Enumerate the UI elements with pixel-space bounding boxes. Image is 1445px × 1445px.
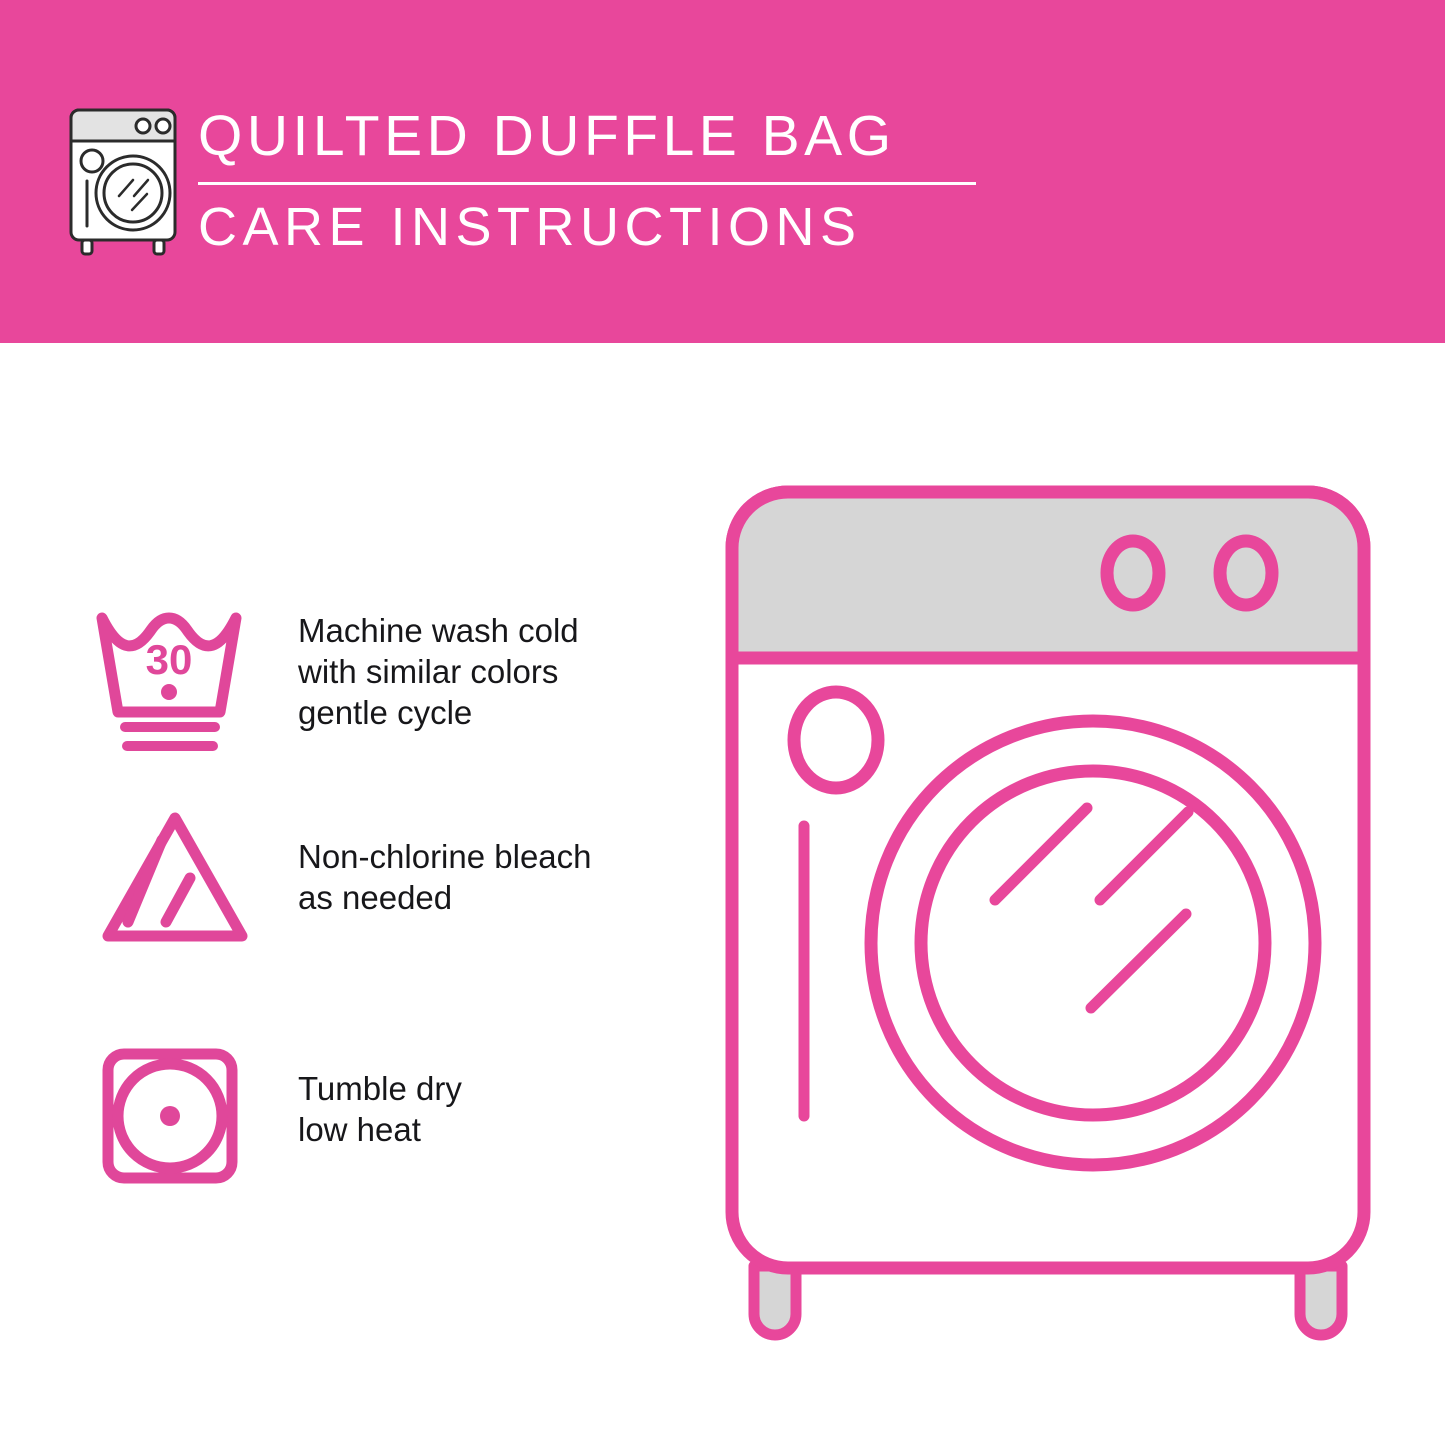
care-instruction-text: Machine wash cold with similar colors ge… <box>298 600 579 733</box>
non-chlorine-bleach-icon <box>90 800 260 960</box>
machine-wash-30-gentle-icon: 30 <box>90 600 260 760</box>
front-load-washing-machine-illustration <box>718 478 1378 1358</box>
machine-legs <box>754 1266 1342 1335</box>
care-instruction-text: Tumble dry low heat <box>298 1036 462 1150</box>
care-instruction-row: 30 Machine wash cold with similar colors… <box>90 600 650 760</box>
care-instruction-row: Non-chlorine bleach as needed <box>90 800 650 960</box>
care-instructions-list: 30 Machine wash cold with similar colors… <box>0 0 660 1445</box>
care-instruction-row: Tumble dry low heat <box>90 1036 650 1196</box>
machine-dispenser-dial <box>794 692 878 788</box>
machine-drum-inner-ring <box>921 771 1265 1115</box>
tumble-dry-low-heat-icon <box>90 1036 260 1196</box>
machine-knob-2 <box>1220 541 1272 605</box>
machine-knob-1 <box>1107 541 1159 605</box>
wash-temperature-label: 30 <box>146 636 193 683</box>
care-instruction-text: Non-chlorine bleach as needed <box>298 800 592 918</box>
care-instructions-page: QUILTED DUFFLE BAG CARE INSTRUCTIONS 30 <box>0 0 1445 1445</box>
